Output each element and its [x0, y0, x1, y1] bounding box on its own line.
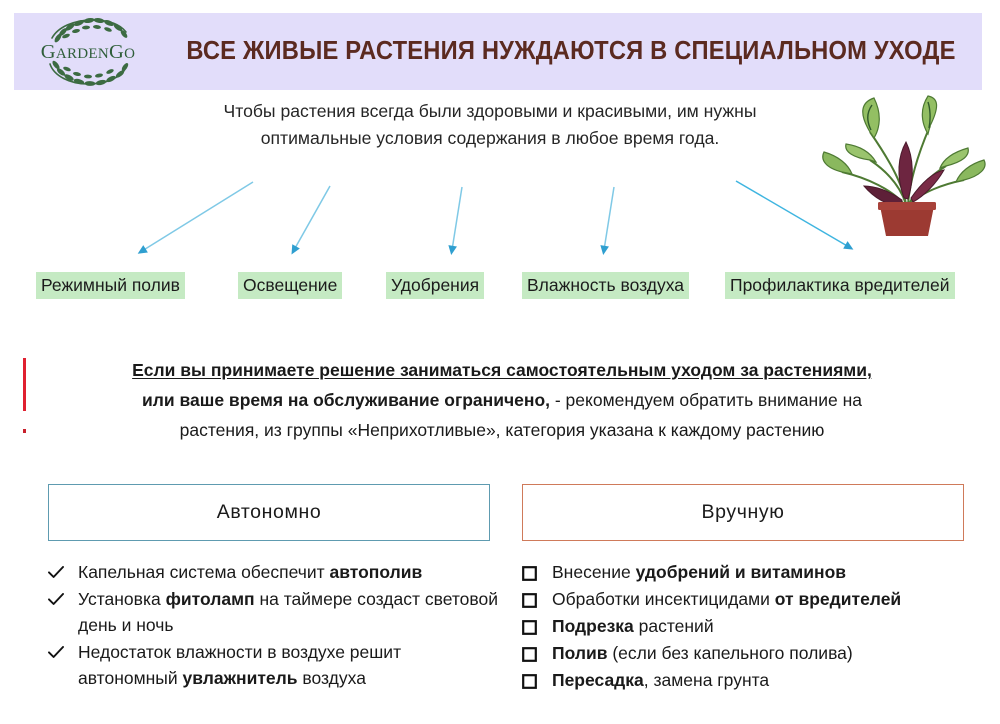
arrow-to-vlazhnost	[604, 187, 614, 250]
chip-rezhimnyj-poliv[interactable]: Режимный полив	[36, 272, 185, 299]
option-box-manual-title: Вручную	[702, 501, 785, 524]
empty-checkbox-icon[interactable]	[522, 613, 552, 635]
empty-checkbox-icon	[522, 593, 537, 608]
brand-logo[interactable]: GARDENGO	[22, 14, 154, 90]
list-item-label: Пересадка, замена грунта	[552, 667, 982, 693]
empty-checkbox-icon	[522, 620, 537, 635]
recommendation-callout: Если вы принимаете решение заниматься са…	[42, 355, 962, 445]
option-box-manual[interactable]: Вручную	[522, 484, 964, 541]
chip-profilaktika[interactable]: Профилактика вредителей	[725, 272, 955, 299]
arrow-to-rezhimnyj-poliv	[142, 182, 253, 251]
checkmark-icon	[48, 646, 64, 659]
list-item[interactable]: Полив (если без капельного полива)	[522, 640, 982, 666]
list-item[interactable]: Установка фитоламп на таймере создаст св…	[48, 586, 498, 638]
checkmark-icon	[48, 566, 64, 579]
empty-checkbox-icon	[522, 566, 537, 581]
laurel-wreath-icon: GARDENGO	[22, 14, 154, 90]
option-box-autonomous-title: Автономно	[217, 501, 322, 524]
chip-osveshchenie[interactable]: Освещение	[238, 272, 342, 299]
list-item[interactable]: Обработки инсектицидами от вредителей	[522, 586, 982, 612]
quote-accent-bar	[23, 358, 26, 411]
manual-task-list: Внесение удобрений и витаминовОбработки …	[522, 559, 982, 694]
list-item-label: Установка фитоламп на таймере создаст св…	[78, 586, 498, 638]
care-topic-chips: Режимный полив Освещение Удобрения Влажн…	[0, 272, 1000, 302]
callout-line-2-rest: - рекомендуем обратить внимание на	[550, 390, 862, 410]
list-item-label: Подрезка растений	[552, 613, 982, 639]
intro-line-1: Чтобы растения всегда были здоровыми и к…	[175, 98, 805, 125]
list-item-label: Обработки инсектицидами от вредителей	[552, 586, 982, 612]
potted-plant-image	[818, 86, 993, 238]
list-item[interactable]: Недостаток влажности в воздухе решит авт…	[48, 639, 498, 691]
checkmark-icon	[48, 593, 64, 606]
quote-accent-dot	[23, 429, 26, 433]
list-item[interactable]: Капельная система обеспечит автополив	[48, 559, 498, 585]
autonomous-feature-list: Капельная система обеспечит автополивУст…	[48, 559, 498, 692]
option-box-autonomous[interactable]: Автономно	[48, 484, 490, 541]
callout-line-3: растения, из группы «Неприхотливые», кат…	[180, 420, 825, 440]
checkmark-icon[interactable]	[48, 559, 78, 579]
chip-udobreniya[interactable]: Удобрения	[386, 272, 484, 299]
chip-vlazhnost-vozduha[interactable]: Влажность воздуха	[522, 272, 689, 299]
brand-logo-text: GARDENGO	[41, 41, 136, 63]
arrow-to-osveshchenie	[294, 186, 330, 250]
list-item[interactable]: Внесение удобрений и витаминов	[522, 559, 982, 585]
empty-checkbox-icon[interactable]	[522, 640, 552, 662]
callout-line-2-bold: или ваше время на обслуживание ограничен…	[142, 390, 550, 410]
page-title: ВСЕ ЖИВЫЕ РАСТЕНИЯ НУЖДАЮТСЯ В СПЕЦИАЛЬН…	[189, 13, 953, 90]
list-item-label: Внесение удобрений и витаминов	[552, 559, 982, 585]
list-item[interactable]: Подрезка растений	[522, 613, 982, 639]
empty-checkbox-icon	[522, 647, 537, 662]
list-item-label: Полив (если без капельного полива)	[552, 640, 982, 666]
slide-root: GARDENGO ВСЕ ЖИВЫЕ РАСТЕНИЯ НУЖДАЮТСЯ В …	[0, 0, 1000, 724]
arrow-to-udobreniya	[452, 187, 462, 250]
intro-paragraph: Чтобы растения всегда были здоровыми и к…	[175, 98, 805, 152]
list-item-label: Недостаток влажности в воздухе решит авт…	[78, 639, 498, 691]
list-item-label: Капельная система обеспечит автополив	[78, 559, 498, 585]
list-item[interactable]: Пересадка, замена грунта	[522, 667, 982, 693]
checkmark-icon[interactable]	[48, 586, 78, 606]
checkmark-icon[interactable]	[48, 639, 78, 659]
empty-checkbox-icon[interactable]	[522, 667, 552, 689]
empty-checkbox-icon	[522, 674, 537, 689]
intro-line-2: оптимальные условия содержания в любое в…	[175, 125, 805, 152]
empty-checkbox-icon[interactable]	[522, 559, 552, 581]
empty-checkbox-icon[interactable]	[522, 586, 552, 608]
callout-line-1: Если вы принимаете решение заниматься са…	[132, 360, 872, 380]
